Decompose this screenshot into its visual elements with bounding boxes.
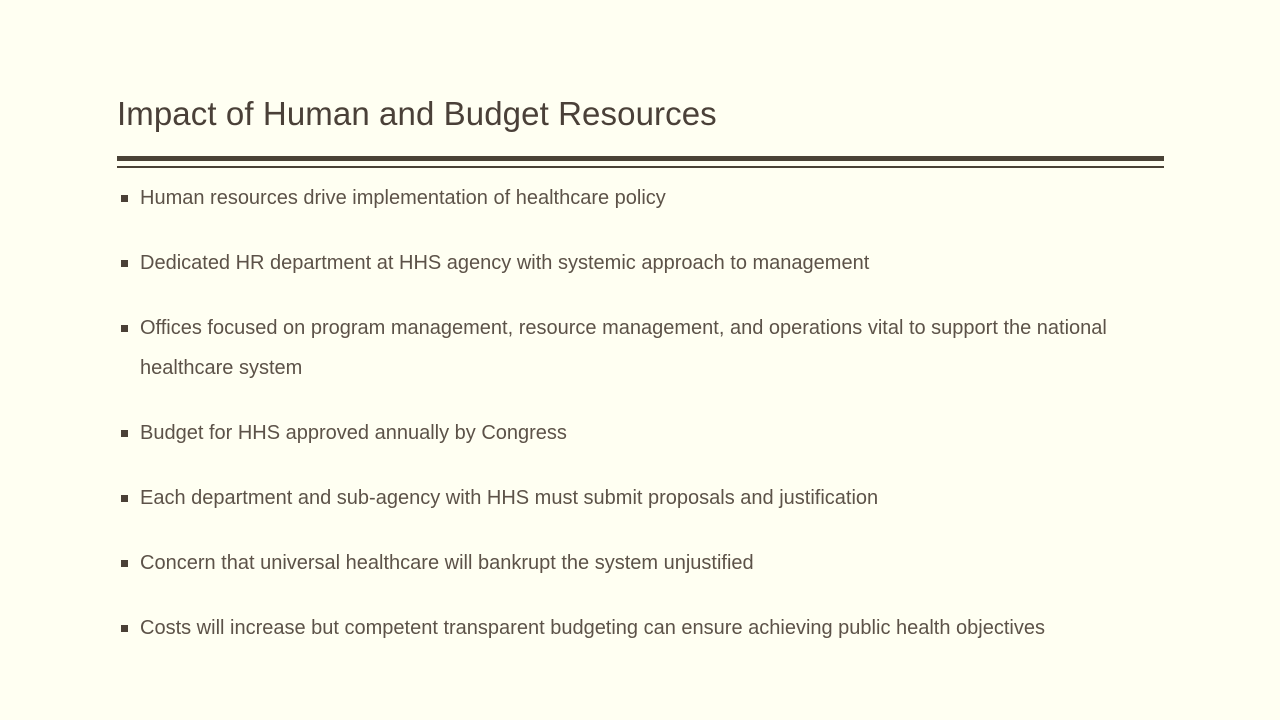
list-item-label: Costs will increase but competent transp… xyxy=(140,608,1147,648)
square-bullet-icon xyxy=(121,625,128,632)
divider-rule-thin xyxy=(117,166,1164,168)
list-item-label: Concern that universal healthcare will b… xyxy=(140,543,1147,583)
square-bullet-icon xyxy=(121,325,128,332)
square-bullet-icon xyxy=(121,260,128,267)
list-item: Human resources drive implementation of … xyxy=(117,178,1147,218)
list-item: Dedicated HR department at HHS agency wi… xyxy=(117,243,1147,283)
square-bullet-icon xyxy=(121,195,128,202)
list-item: Costs will increase but competent transp… xyxy=(117,608,1147,648)
page-title: Impact of Human and Budget Resources xyxy=(117,94,1164,134)
list-item: Each department and sub-agency with HHS … xyxy=(117,478,1147,518)
square-bullet-icon xyxy=(121,430,128,437)
slide-title-block: Impact of Human and Budget Resources xyxy=(117,72,1164,168)
list-item-label: Human resources drive implementation of … xyxy=(140,178,1147,218)
list-item: Budget for HHS approved annually by Cong… xyxy=(117,413,1147,453)
square-bullet-icon xyxy=(121,495,128,502)
title-divider xyxy=(117,156,1164,168)
presentation-slide: Impact of Human and Budget Resources Hum… xyxy=(0,0,1280,720)
list-item-label: Each department and sub-agency with HHS … xyxy=(140,478,1147,518)
square-bullet-icon xyxy=(121,560,128,567)
list-item-label: Dedicated HR department at HHS agency wi… xyxy=(140,243,1147,283)
bullet-list: Human resources drive implementation of … xyxy=(117,178,1147,648)
list-item-label: Offices focused on program management, r… xyxy=(140,308,1147,388)
list-item: Concern that universal healthcare will b… xyxy=(117,543,1147,583)
list-item-label: Budget for HHS approved annually by Cong… xyxy=(140,413,1147,453)
list-item: Offices focused on program management, r… xyxy=(117,308,1147,388)
